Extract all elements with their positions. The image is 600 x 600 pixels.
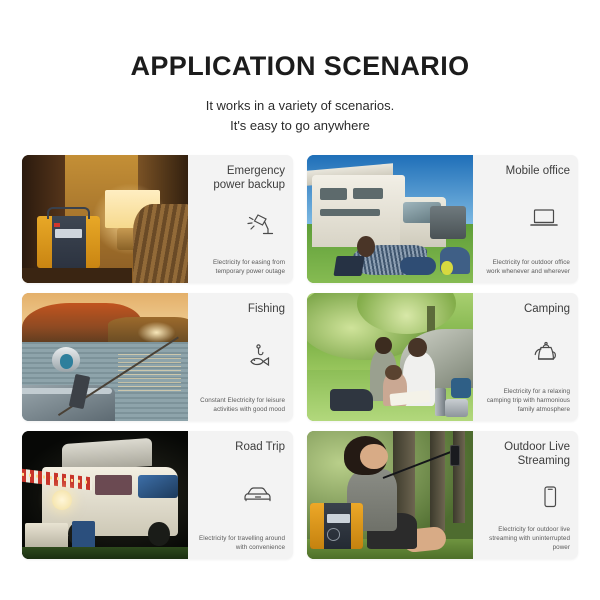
- kettle-icon: [530, 339, 560, 365]
- category-line-1: Mobile office: [480, 164, 570, 178]
- scenario-icon-wrap: [480, 178, 570, 257]
- scenario-photo-camping: [307, 293, 473, 421]
- subtitle-line-2: It's easy to go anywhere: [0, 116, 600, 136]
- smartphone-icon: [538, 484, 560, 510]
- fish-hook-icon: [245, 342, 275, 370]
- scenario-description: Electricity for easing from temporary po…: [195, 258, 285, 276]
- scenario-icon-wrap: [195, 193, 285, 258]
- scenario-grid: Emergency power backup Electrici: [22, 155, 578, 559]
- scenario-category-label: Camping: [480, 302, 570, 316]
- category-line-1: Road Trip: [195, 440, 285, 454]
- page-subtitle: It works in a variety of scenarios. It's…: [0, 96, 600, 136]
- category-line-2: Streaming: [480, 454, 570, 468]
- scenario-description: Constant Electricity for leisure activit…: [195, 396, 285, 414]
- category-line-1: Emergency: [195, 164, 285, 178]
- category-line-1: Outdoor Live: [480, 440, 570, 454]
- scenario-icon-wrap: [480, 469, 570, 525]
- scenario-text-panel-fishing: Fishing Constant Electricity for leisure…: [188, 293, 293, 421]
- scenario-category-label: Fishing: [195, 302, 285, 316]
- page-title: APPLICATION SCENARIO: [0, 52, 600, 82]
- category-line-1: Fishing: [195, 302, 285, 316]
- scenario-card-road-trip[interactable]: Road Trip Electricity for travelling aro…: [22, 431, 293, 559]
- scenario-card-camping[interactable]: Camping Electricity for a r: [307, 293, 578, 421]
- scenario-text-panel-outdoor-live-streaming: Outdoor Live Streaming Electricity for o…: [473, 431, 578, 559]
- application-scenario-page: APPLICATION SCENARIO It works in a varie…: [0, 0, 600, 600]
- scenario-card-mobile-office[interactable]: Mobile office Electricity for outdoor of…: [307, 155, 578, 283]
- scenario-card-fishing[interactable]: Fishing Constant Electricity for leisure…: [22, 293, 293, 421]
- scenario-text-panel-road-trip: Road Trip Electricity for travelling aro…: [188, 431, 293, 559]
- scenario-description: Electricity for outdoor office work when…: [480, 258, 570, 276]
- category-line-1: Camping: [480, 302, 570, 316]
- scenario-description: Electricity for outdoor live streaming w…: [480, 525, 570, 552]
- car-icon: [241, 483, 275, 505]
- scenario-category-label: Outdoor Live Streaming: [480, 440, 570, 469]
- page-header: APPLICATION SCENARIO It works in a varie…: [0, 0, 600, 136]
- scenario-description: Electricity for travelling around with c…: [195, 534, 285, 552]
- scenario-photo-mobile-office: [307, 155, 473, 283]
- scenario-icon-wrap: [195, 454, 285, 533]
- scenario-text-panel-emergency-power-backup: Emergency power backup Electrici: [188, 155, 293, 283]
- scenario-icon-wrap: [480, 316, 570, 386]
- scenario-photo-road-trip: [22, 431, 188, 559]
- scenario-photo-outdoor-live-streaming: [307, 431, 473, 559]
- scenario-category-label: Emergency power backup: [195, 164, 285, 193]
- scenario-text-panel-camping: Camping Electricity for a r: [473, 293, 578, 421]
- scenario-card-outdoor-live-streaming[interactable]: Outdoor Live Streaming Electricity for o…: [307, 431, 578, 559]
- scenario-text-panel-mobile-office: Mobile office Electricity for outdoor of…: [473, 155, 578, 283]
- scenario-icon-wrap: [195, 316, 285, 395]
- scenario-description: Electricity for a relaxing camping trip …: [480, 387, 570, 414]
- subtitle-line-1: It works in a variety of scenarios.: [0, 96, 600, 116]
- scenario-photo-emergency-power-backup: [22, 155, 188, 283]
- category-line-2: power backup: [195, 178, 285, 192]
- scenario-photo-fishing: [22, 293, 188, 421]
- laptop-icon: [528, 206, 560, 230]
- scenario-category-label: Road Trip: [195, 440, 285, 454]
- desk-lamp-icon: [245, 212, 275, 238]
- scenario-card-emergency-power-backup[interactable]: Emergency power backup Electrici: [22, 155, 293, 283]
- scenario-category-label: Mobile office: [480, 164, 570, 178]
